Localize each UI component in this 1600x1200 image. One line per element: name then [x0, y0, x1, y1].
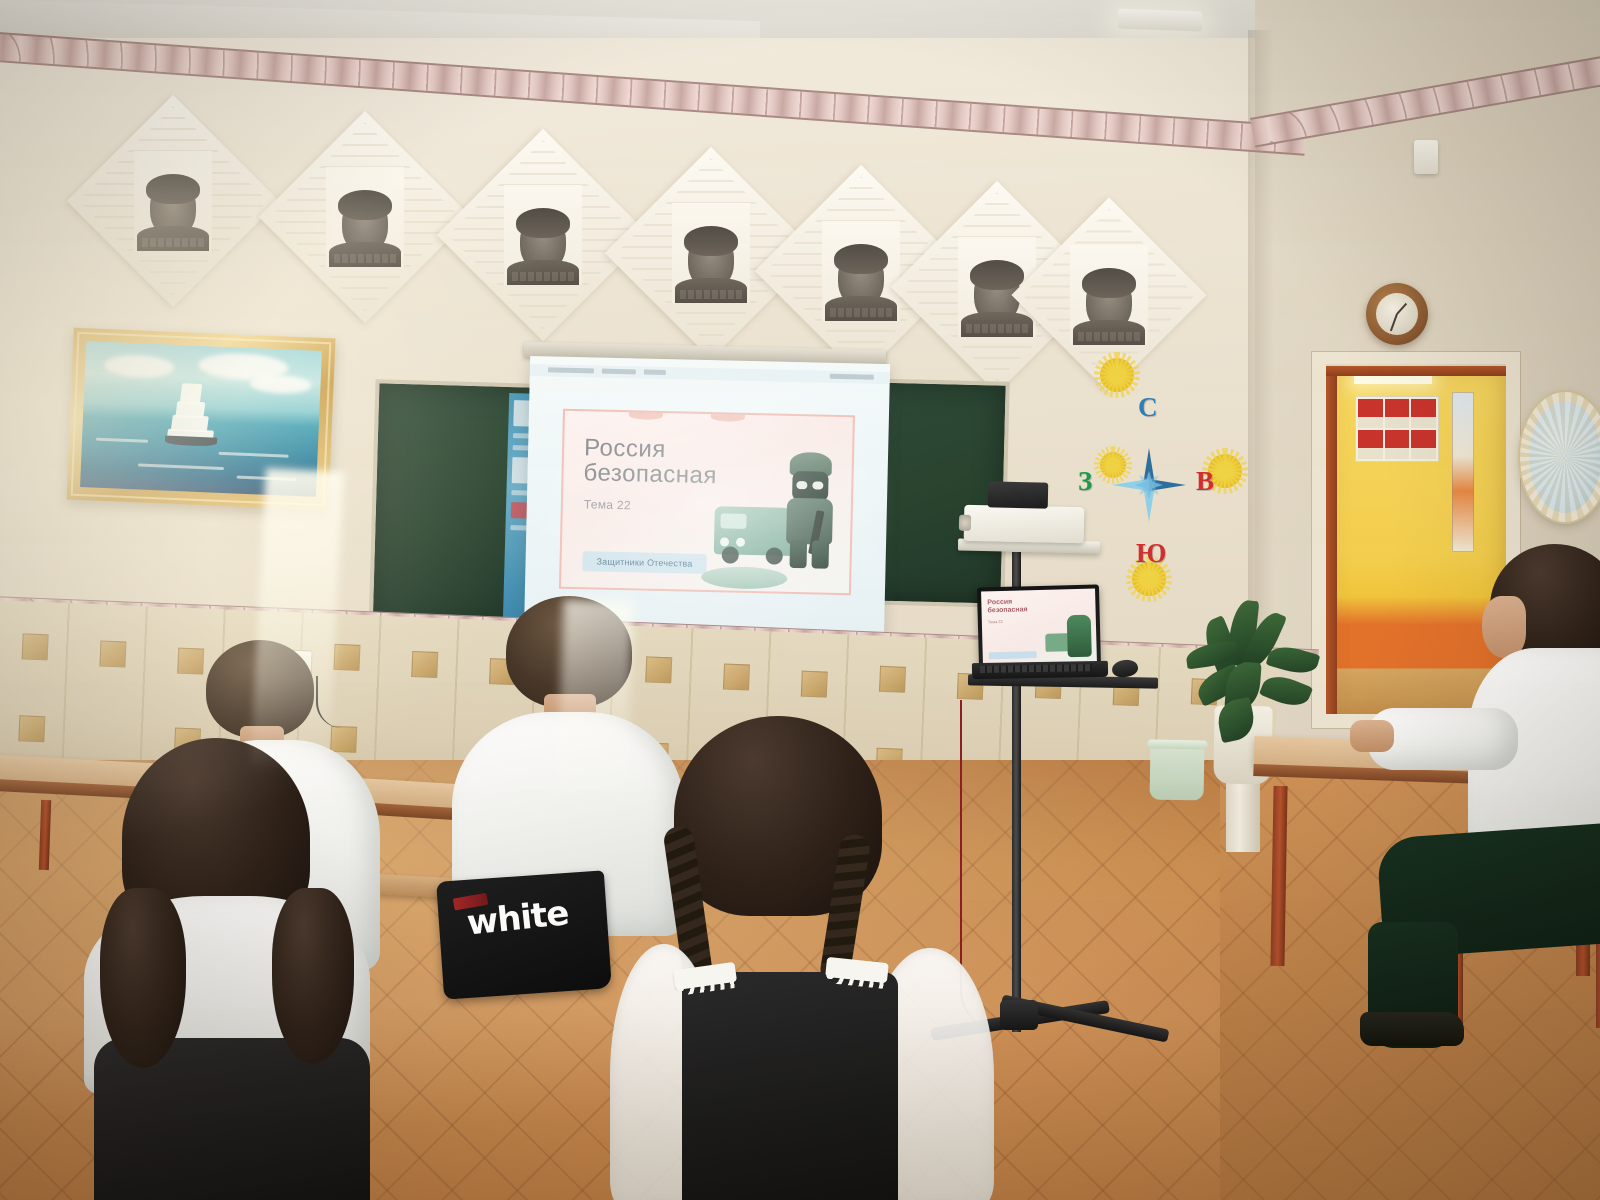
portrait-face: [342, 195, 388, 253]
adult-seated: [1446, 544, 1600, 1044]
portrait-drawing: [1070, 245, 1148, 345]
portrait-face: [520, 213, 566, 271]
truck-window: [720, 513, 746, 529]
slide-notch: [629, 411, 663, 420]
student-hair-strand: [272, 888, 354, 1064]
portrait-caption: [142, 238, 204, 247]
student-uniform-dress: [682, 972, 898, 1200]
plant-leaf: [1259, 670, 1313, 712]
compass-rose-decor: С З В Ю: [1060, 370, 1240, 600]
portrait-caption: [334, 254, 396, 263]
soldier-leg: [789, 540, 807, 568]
potted-plant: [1178, 596, 1328, 746]
backpack: white: [436, 870, 612, 999]
student-girl-left: [76, 738, 376, 1200]
ship-hull: [164, 435, 216, 446]
portrait-face: [838, 249, 884, 307]
cloud: [104, 354, 175, 379]
laptop-slide-illustration: [1044, 605, 1093, 660]
plant-leaf: [1266, 642, 1321, 679]
av-stand-base-hub: [1000, 1000, 1038, 1030]
wave: [236, 476, 296, 482]
portrait-drawing: [134, 151, 212, 251]
illustration-base: [701, 566, 787, 590]
smoke-detector: [1414, 140, 1438, 174]
truck-headlight: [736, 538, 745, 547]
sun-decoration: [1100, 358, 1134, 392]
portrait-drawing: [326, 167, 404, 267]
laptop-slide-title: Россия безопасная: [987, 598, 1039, 615]
oval-mirror: [1520, 392, 1600, 522]
soldier-eye: [812, 481, 823, 489]
classroom-photo: Россия безопасная Тема 22 Защитники Отеч…: [0, 0, 1600, 1200]
presentation-slide: Россия безопасная Тема 22 Защитники Отеч…: [559, 409, 855, 596]
slide-app-toolbar: [530, 364, 890, 384]
toolbar-item: [644, 370, 666, 375]
slide-button: Защитники Отечества: [582, 551, 706, 574]
laptop-slide-subtitle: Тема 22: [988, 619, 1003, 624]
portrait-caption: [512, 272, 574, 281]
wainscot-tile: [723, 664, 750, 691]
wainscot-tile: [801, 671, 828, 698]
soldier-graphic: [777, 452, 842, 571]
lace-collar: [825, 957, 889, 983]
clock-minute-hand: [1390, 314, 1398, 332]
toolbar-item: [830, 374, 874, 380]
slide-subtitle: Тема 22: [584, 497, 631, 512]
projector: [964, 505, 1085, 544]
portrait-caption: [680, 290, 742, 299]
wainscot-tile: [22, 633, 49, 660]
student-hair-strand: [100, 888, 186, 1068]
laptop-screen[interactable]: Россия безопасная Тема 22: [977, 584, 1101, 669]
waste-bin: [1150, 744, 1205, 801]
laptop-slide-title-line2: безопасная: [987, 606, 1039, 615]
portrait-face: [1086, 273, 1132, 331]
soldier-body: [786, 498, 833, 545]
laptop-soldier-graphic: [1067, 615, 1092, 658]
compass-label-south: Ю: [1136, 538, 1166, 569]
portrait-drawing: [672, 203, 750, 303]
portrait-face: [688, 231, 734, 289]
slide-notch: [711, 413, 745, 422]
projector-lens: [959, 515, 971, 531]
portrait-caption: [1078, 332, 1140, 341]
portrait-drawing: [504, 185, 582, 285]
clock-face: [1376, 293, 1418, 335]
compass-star-icon: [1112, 448, 1186, 522]
portrait-gallery: [0, 0, 1250, 360]
soldier-eye: [796, 481, 807, 489]
compass-label-north: С: [1138, 392, 1158, 423]
portrait-face: [150, 179, 196, 237]
compass-label-east: В: [1196, 466, 1214, 497]
soldier-leg: [811, 540, 829, 568]
adult-face: [1482, 596, 1526, 658]
toolbar-item: [548, 367, 594, 373]
wall-clock: [1366, 283, 1428, 345]
portrait-caption: [966, 324, 1028, 333]
seascape-painting: [67, 328, 336, 511]
student-hair: [506, 596, 632, 708]
laptop-slide-button: [989, 651, 1037, 659]
laptop-display: Россия безопасная Тема 22: [981, 589, 1097, 666]
wainscot-tile: [18, 715, 45, 742]
portrait-drawing: [822, 221, 900, 321]
wave: [218, 452, 288, 458]
cloud: [249, 374, 312, 395]
portrait-diamond: [259, 111, 471, 323]
truck-headlight: [720, 537, 729, 546]
slide-illustration: [711, 440, 846, 583]
student-hair: [206, 640, 314, 738]
adult-hand: [1350, 720, 1394, 752]
toolbar-item: [602, 369, 636, 375]
student-girl-braid: [616, 716, 996, 1200]
clock-hour-hand: [1396, 303, 1407, 315]
compass-label-west: З: [1078, 466, 1092, 497]
painting-canvas: [80, 341, 322, 497]
projector-top-unit: [988, 481, 1049, 508]
wainscot-tile: [411, 651, 438, 678]
wave: [138, 463, 224, 470]
portrait-diamond: [437, 129, 649, 341]
wainscot-tile: [99, 640, 126, 667]
portrait-diamond: [67, 95, 279, 307]
laptop-keyboard-base[interactable]: [972, 661, 1108, 679]
tall-ship: [162, 382, 221, 450]
adult-shoe: [1360, 1012, 1464, 1046]
laptop-keyboard[interactable]: [980, 664, 1092, 673]
wainscot-tile: [879, 666, 906, 693]
wave: [96, 438, 148, 443]
plant-pedestal: [1226, 778, 1260, 852]
truck-wheel: [722, 546, 739, 563]
portrait-caption: [830, 308, 892, 317]
